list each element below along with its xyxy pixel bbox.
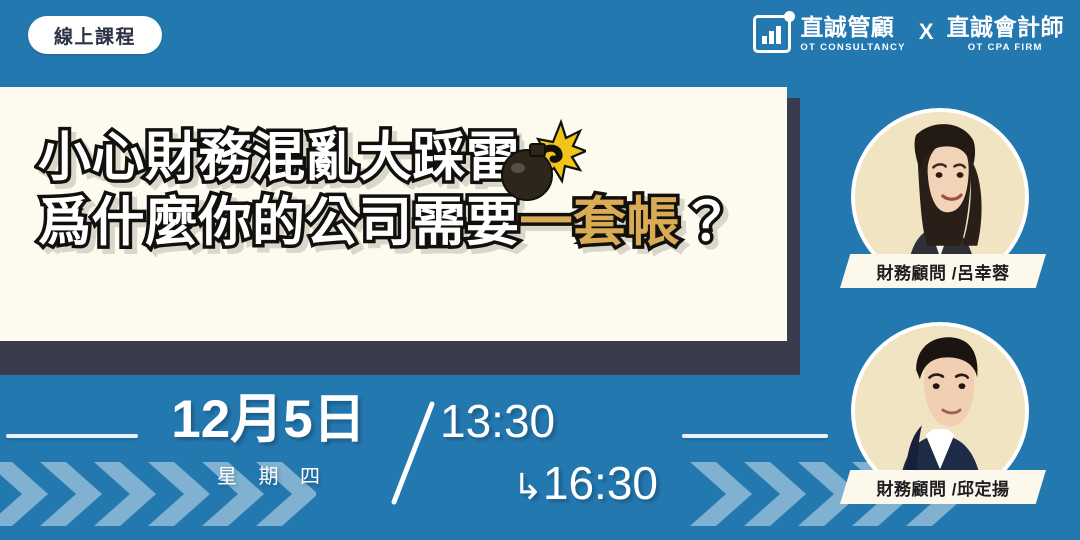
event-date-block: 12月5日 星 期 四 (156, 393, 381, 489)
headline-line-2: 爲什麼你的公司需要一套帳？ (38, 191, 778, 256)
arrow-down-right-icon: ↳ (513, 466, 543, 507)
horizontal-rule-icon (6, 434, 138, 438)
diagonal-slash-icon (388, 398, 438, 508)
page-title: 小心財務混亂大踩雷 爲什麼你的公司需要一套帳？ (38, 126, 778, 255)
event-time-start: 13:30 (440, 398, 690, 444)
brand-right: 直誠會計師 OT CPA FIRM (947, 16, 1065, 53)
headline-line-2-prefix: 爲什麼你的公司需要 (38, 193, 520, 252)
brand-lockup: 直誠管顧 OT CONSULTANCY X 直誠會計師 OT CPA FIRM (753, 10, 1064, 58)
bomb-icon (500, 118, 586, 204)
brand-right-name-en: OT CPA FIRM (947, 43, 1065, 53)
brand-separator: X (919, 19, 934, 49)
brand-left-name-en: OT CONSULTANCY (800, 43, 905, 53)
event-time-end-row: ↳16:30 (440, 460, 690, 506)
online-course-badge: 線上課程 (28, 16, 162, 54)
headline-line-2-suffix: ？ (680, 193, 734, 252)
logo-dot-icon (784, 11, 795, 22)
brand-left: 直誠管顧 OT CONSULTANCY (800, 16, 905, 53)
speaker-nameplate-label: 財務顧問 /邱定揚 (877, 475, 1010, 500)
online-course-badge-label: 線上課程 (54, 22, 136, 49)
headline-line-1: 小心財務混亂大踩雷 (38, 126, 778, 191)
event-time-block: 13:30 ↳16:30 (440, 398, 690, 506)
speaker-nameplate: 財務顧問 /呂幸蓉 (840, 254, 1046, 288)
brand-right-name-cn: 直誠會計師 (947, 16, 1065, 39)
webinar-banner: 線上課程 直誠管顧 OT CONSULTANCY X 直誠會計師 OT CPA … (0, 0, 1080, 540)
event-time-end: 16:30 (543, 457, 658, 509)
event-date: 12月5日 (156, 393, 381, 446)
horizontal-rule-icon (682, 434, 828, 438)
speaker-nameplate-label: 財務顧問 /呂幸蓉 (877, 259, 1010, 284)
brand-left-name-cn: 直誠管顧 (800, 16, 905, 39)
event-weekday: 星 期 四 (156, 460, 381, 489)
bar-chart-logo-icon (753, 15, 791, 53)
speaker-nameplate: 財務顧問 /邱定揚 (840, 470, 1046, 504)
